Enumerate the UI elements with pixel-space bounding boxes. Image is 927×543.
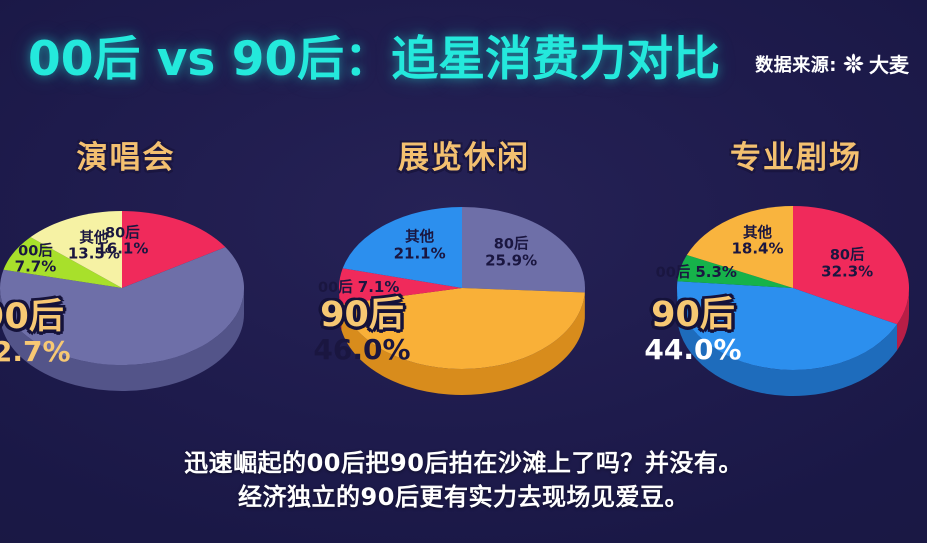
- pie-canvas-2: 80后32.3%90后44.0%00后 5.3%其他18.4%: [662, 180, 927, 410]
- chart-title-2: 专业剧场: [662, 132, 927, 177]
- header: 00后 vs 90后：追星消费力对比 数据来源:: [0, 20, 927, 96]
- pie-chart-exhibition: 展览休闲 80后25.9%90后46.0%00后 7.1%其他21.1%: [330, 132, 598, 422]
- pie-svg-2: [662, 180, 927, 410]
- pie-svg-1: [330, 180, 598, 410]
- pie-svg-0: [0, 180, 260, 410]
- caption: 迅速崛起的00后把90后拍在沙滩上了吗？并没有。 经济独立的90后更有实力去现场…: [0, 446, 927, 514]
- damai-sunburst-icon: [843, 53, 864, 74]
- chart-title-1: 展览休闲: [330, 132, 598, 177]
- pie-chart-concert: 演唱会 80后16.1%90后62.7%00后7.7%其他13.5%: [0, 132, 260, 422]
- pie-slice-80后[interactable]: [462, 207, 585, 292]
- chart-title-0: 演唱会: [0, 132, 260, 177]
- pie-canvas-1: 80后25.9%90后46.0%00后 7.1%其他21.1%: [330, 180, 598, 410]
- page-title: 00后 vs 90后：追星消费力对比: [28, 36, 720, 83]
- caption-line-1: 迅速崛起的00后把90后拍在沙滩上了吗？并没有。: [0, 446, 927, 480]
- pie-canvas-0: 80后16.1%90后62.7%00后7.7%其他13.5%: [0, 180, 260, 410]
- pie-chart-theater: 专业剧场 80后32.3%90后44.0%00后 5.3%其他18.4%: [662, 132, 927, 422]
- data-source: 数据来源:: [755, 49, 909, 78]
- infographic-canvas: 00后 vs 90后：追星消费力对比 数据来源:: [0, 0, 927, 543]
- caption-line-2: 经济独立的90后更有实力去现场见爱豆。: [0, 480, 927, 514]
- data-source-label: 数据来源:: [755, 51, 837, 77]
- data-source-brand: 大麦: [869, 49, 909, 78]
